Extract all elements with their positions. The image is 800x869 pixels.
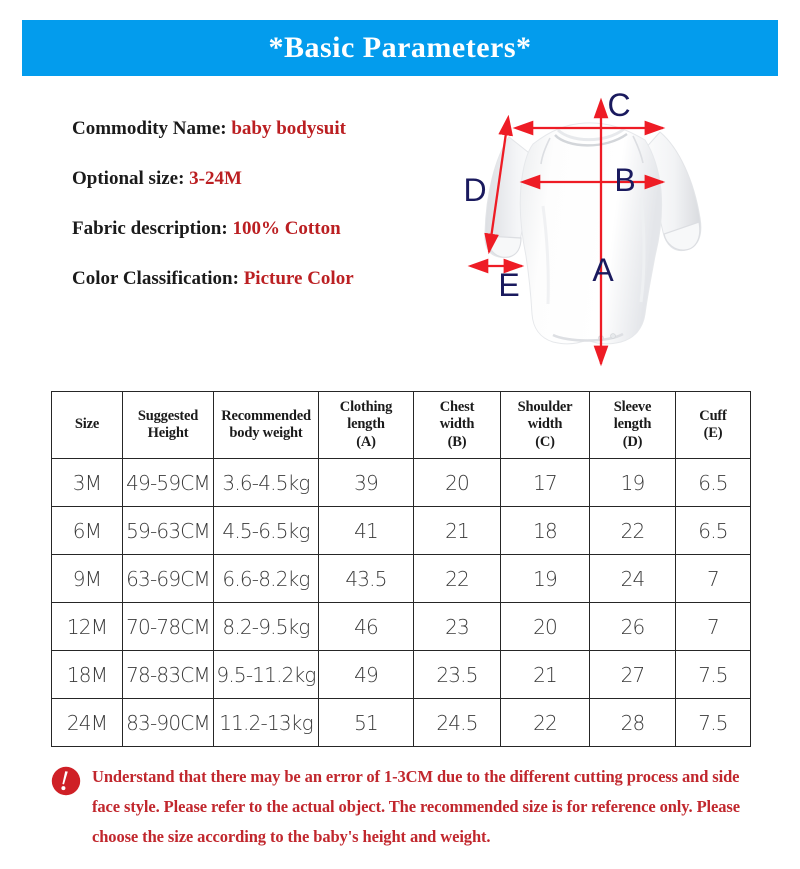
size-chart: Size Suggested Height Recommended body w… bbox=[51, 391, 750, 747]
cell-sleeve: 28 bbox=[590, 699, 676, 747]
parameter-label: Fabric description: bbox=[72, 218, 228, 239]
size-disclaimer: Understand that there may be an error of… bbox=[51, 762, 761, 852]
parameter-row-commodity-name: Commodity Name: baby bodysuit bbox=[72, 118, 462, 140]
cell-shoulder: 17 bbox=[501, 459, 590, 507]
column-header-suggested-height: Suggested Height bbox=[123, 392, 214, 459]
cell-cuff: 7 bbox=[676, 555, 751, 603]
cell-chest: 24.5 bbox=[414, 699, 501, 747]
table-body: 3M 49-59CM 3.6-4.5kg 39 20 17 19 6.5 6M … bbox=[52, 459, 751, 747]
cell-weight: 4.5-6.5kg bbox=[214, 507, 319, 555]
cell-weight: 9.5-11.2kg bbox=[214, 651, 319, 699]
cell-height: 70-78CM bbox=[123, 603, 214, 651]
cell-cuff: 6.5 bbox=[676, 459, 751, 507]
cell-shoulder: 18 bbox=[501, 507, 590, 555]
page-title: *Basic Parameters* bbox=[268, 31, 531, 65]
size-table: Size Suggested Height Recommended body w… bbox=[51, 391, 751, 747]
cell-size: 9M bbox=[52, 555, 123, 603]
cell-chest: 23 bbox=[414, 603, 501, 651]
bodysuit-illustration: A B C D E bbox=[455, 86, 755, 376]
table-header-row: Size Suggested Height Recommended body w… bbox=[52, 392, 751, 459]
cell-length: 51 bbox=[319, 699, 414, 747]
label-b: B bbox=[614, 162, 635, 198]
cell-weight: 8.2-9.5kg bbox=[214, 603, 319, 651]
bodysuit-fabric bbox=[485, 123, 701, 344]
parameter-label: Optional size: bbox=[72, 168, 184, 189]
cell-length: 41 bbox=[319, 507, 414, 555]
cell-height: 83-90CM bbox=[123, 699, 214, 747]
cell-sleeve: 27 bbox=[590, 651, 676, 699]
parameter-value: baby bodysuit bbox=[231, 118, 346, 139]
cell-sleeve: 19 bbox=[590, 459, 676, 507]
parameter-value: Picture Color bbox=[244, 268, 354, 289]
parameter-list: Commodity Name: baby bodysuit Optional s… bbox=[72, 118, 462, 317]
cell-shoulder: 19 bbox=[501, 555, 590, 603]
label-a: A bbox=[592, 252, 614, 288]
column-header-sleeve-length: Sleeve length (D) bbox=[590, 392, 676, 459]
column-header-cuff: Cuff (E) bbox=[676, 392, 751, 459]
parameter-label: Commodity Name: bbox=[72, 118, 227, 139]
cell-length: 43.5 bbox=[319, 555, 414, 603]
table-row: 24M 83-90CM 11.2-13kg 51 24.5 22 28 7.5 bbox=[52, 699, 751, 747]
label-c: C bbox=[607, 87, 630, 123]
cell-shoulder: 20 bbox=[501, 603, 590, 651]
parameter-row-color-classification: Color Classification: Picture Color bbox=[72, 268, 462, 290]
table-row: 12M 70-78CM 8.2-9.5kg 46 23 20 26 7 bbox=[52, 603, 751, 651]
cell-sleeve: 24 bbox=[590, 555, 676, 603]
cell-chest: 23.5 bbox=[414, 651, 501, 699]
header-banner: *Basic Parameters* bbox=[22, 20, 778, 76]
column-header-shoulder-width: Shoulder width (C) bbox=[501, 392, 590, 459]
cell-size: 24M bbox=[52, 699, 123, 747]
cell-cuff: 7 bbox=[676, 603, 751, 651]
cell-height: 49-59CM bbox=[123, 459, 214, 507]
cell-sleeve: 22 bbox=[590, 507, 676, 555]
column-header-recommended-body-weight: Recommended body weight bbox=[214, 392, 319, 459]
cell-height: 78-83CM bbox=[123, 651, 214, 699]
cell-chest: 20 bbox=[414, 459, 501, 507]
column-header-size: Size bbox=[52, 392, 123, 459]
cell-shoulder: 22 bbox=[501, 699, 590, 747]
cell-cuff: 6.5 bbox=[676, 507, 751, 555]
cell-weight: 6.6-8.2kg bbox=[214, 555, 319, 603]
cell-size: 12M bbox=[52, 603, 123, 651]
cell-length: 46 bbox=[319, 603, 414, 651]
parameter-label: Color Classification: bbox=[72, 268, 239, 289]
cell-weight: 3.6-4.5kg bbox=[214, 459, 319, 507]
column-header-chest-width: Chest width (B) bbox=[414, 392, 501, 459]
cell-length: 49 bbox=[319, 651, 414, 699]
cell-chest: 21 bbox=[414, 507, 501, 555]
table-row: 18M 78-83CM 9.5-11.2kg 49 23.5 21 27 7.5 bbox=[52, 651, 751, 699]
disclaimer-text: Understand that there may be an error of… bbox=[92, 762, 761, 852]
cell-sleeve: 26 bbox=[590, 603, 676, 651]
cell-shoulder: 21 bbox=[501, 651, 590, 699]
cell-length: 39 bbox=[319, 459, 414, 507]
cell-height: 63-69CM bbox=[123, 555, 214, 603]
cell-cuff: 7.5 bbox=[676, 699, 751, 747]
cell-weight: 11.2-13kg bbox=[214, 699, 319, 747]
label-d: D bbox=[463, 172, 486, 208]
parameter-value: 100% Cotton bbox=[232, 218, 340, 239]
table-row: 3M 49-59CM 3.6-4.5kg 39 20 17 19 6.5 bbox=[52, 459, 751, 507]
parameter-row-fabric-description: Fabric description: 100% Cotton bbox=[72, 218, 462, 240]
table-header: Size Suggested Height Recommended body w… bbox=[52, 392, 751, 459]
parameter-value: 3-24M bbox=[189, 168, 242, 189]
exclamation-circle-icon bbox=[51, 766, 81, 796]
cell-cuff: 7.5 bbox=[676, 651, 751, 699]
table-row: 6M 59-63CM 4.5-6.5kg 41 21 18 22 6.5 bbox=[52, 507, 751, 555]
cell-size: 3M bbox=[52, 459, 123, 507]
cell-size: 6M bbox=[52, 507, 123, 555]
cell-chest: 22 bbox=[414, 555, 501, 603]
parameter-row-optional-size: Optional size: 3-24M bbox=[72, 168, 462, 190]
cell-height: 59-63CM bbox=[123, 507, 214, 555]
cell-size: 18M bbox=[52, 651, 123, 699]
label-e: E bbox=[498, 267, 519, 303]
garment-measurement-diagram: A B C D E bbox=[455, 86, 755, 376]
table-row: 9M 63-69CM 6.6-8.2kg 43.5 22 19 24 7 bbox=[52, 555, 751, 603]
column-header-clothing-length: Clothing length (A) bbox=[319, 392, 414, 459]
